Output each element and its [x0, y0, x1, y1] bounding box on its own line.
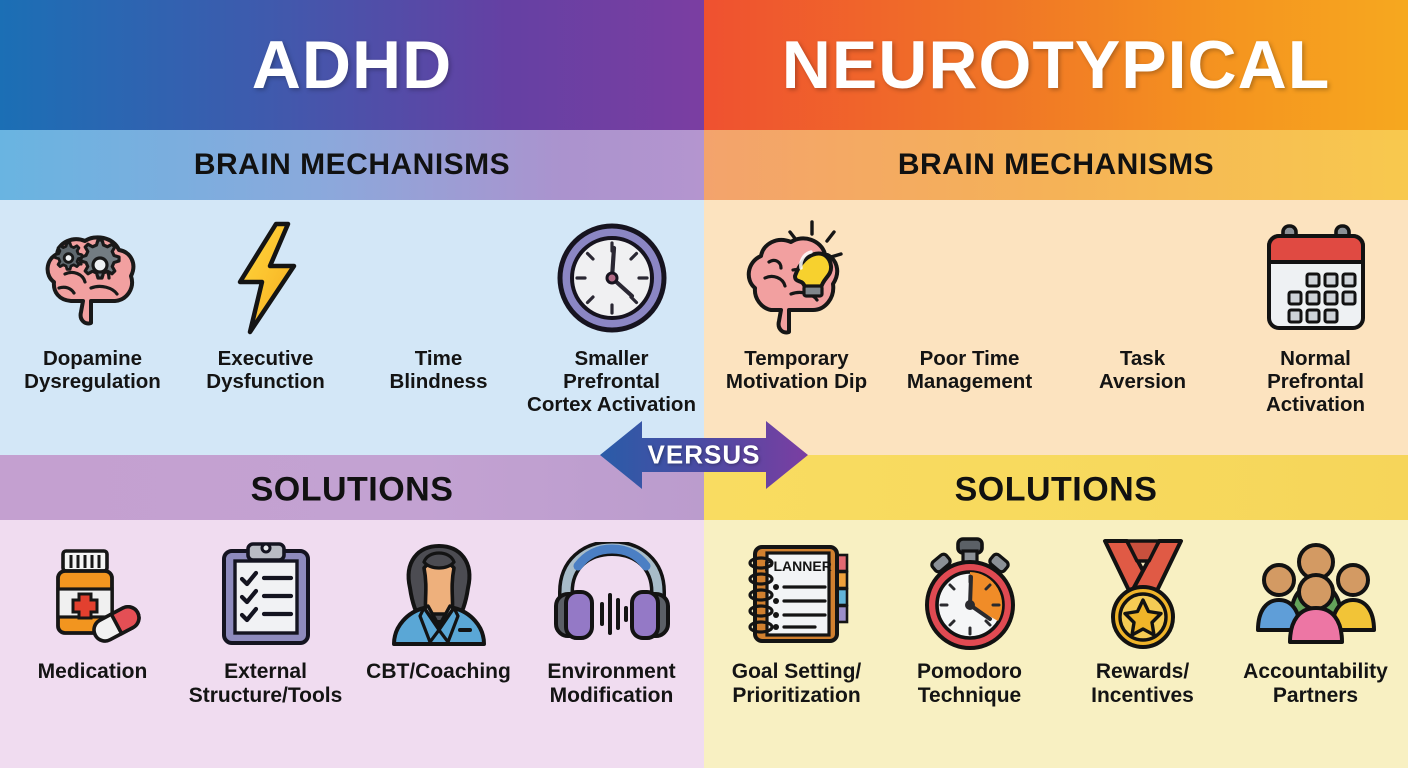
list-item-label: Medication	[38, 660, 148, 684]
list-item-label: Normal Prefrontal Activation	[1266, 348, 1365, 417]
list-item: Time Blindness	[352, 214, 525, 394]
neurotypical-solutions-panel: PLANNER	[704, 520, 1408, 768]
list-item: Rewards/ Incentives	[1056, 534, 1229, 707]
list-item-label: Smaller Prefrontal Cortex Activation	[527, 348, 696, 417]
list-item: Accountability Partners	[1229, 534, 1402, 707]
list-item: Executive Dysfunction	[179, 214, 352, 394]
neurotypical-solutions-header: SOLUTIONS	[704, 471, 1408, 510]
lightning-bolt-icon	[224, 214, 308, 342]
list-item-label: Executive Dysfunction	[206, 348, 324, 394]
adhd-column: ADHD BRAIN MECHANISMS	[0, 0, 704, 768]
list-item: Medication	[6, 534, 179, 684]
list-item: PLANNER	[710, 534, 883, 707]
list-item-label: Goal Setting/ Prioritization	[732, 660, 862, 707]
people-group-icon	[1255, 534, 1377, 654]
list-item-label: Accountability Partners	[1243, 660, 1388, 707]
list-item: External Structure/Tools	[179, 534, 352, 707]
medal-icon	[1089, 534, 1197, 654]
brain-lightbulb-icon	[733, 214, 861, 342]
list-item: CBT/Coaching	[352, 534, 525, 684]
list-item-label: Poor Time Management	[907, 348, 1032, 394]
adhd-title-band: ADHD	[0, 0, 704, 130]
list-item-label: Rewards/ Incentives	[1091, 660, 1194, 707]
list-item: Normal Prefrontal Activation	[1229, 214, 1402, 417]
list-item-label: Dopamine Dysregulation	[24, 348, 161, 394]
headphones-icon	[552, 534, 672, 654]
clock-icon	[554, 214, 670, 342]
list-item: Temporary Motivation Dip	[710, 214, 883, 394]
neurotypical-title-band: NEUROTYPICAL	[704, 0, 1408, 130]
list-item: Dopamine Dysregulation	[6, 214, 179, 394]
adhd-solutions-panel: Medication	[0, 520, 704, 768]
clipboard-checklist-icon	[216, 534, 316, 654]
neurotypical-mechanisms-panel: Temporary Motivation Dip Poor Time Manag…	[704, 200, 1408, 455]
list-item: Environment Modification	[525, 534, 698, 707]
planner-notebook-icon: PLANNER	[741, 534, 853, 654]
comparison-infographic: ADHD BRAIN MECHANISMS	[0, 0, 1408, 768]
neurotypical-mechanisms-items: Temporary Motivation Dip Poor Time Manag…	[704, 200, 1408, 455]
list-item-label: External Structure/Tools	[189, 660, 343, 707]
neurotypical-solutions-items: PLANNER	[704, 520, 1408, 768]
adhd-title: ADHD	[0, 26, 704, 104]
adhd-mechanisms-panel: Dopamine Dysregulation	[0, 200, 704, 455]
person-therapist-icon	[386, 534, 492, 654]
list-item: Poor Time Management	[883, 214, 1056, 394]
stopwatch-icon	[914, 534, 1026, 654]
versus-arrow: VERSUS	[600, 418, 808, 492]
list-item-label: Time Blindness	[390, 348, 488, 394]
list-item: Task Aversion	[1056, 214, 1229, 394]
pill-bottle-icon	[40, 534, 146, 654]
neurotypical-column: NEUROTYPICAL BRAIN MECHANISMS	[704, 0, 1408, 768]
adhd-mechanisms-header: BRAIN MECHANISMS	[0, 148, 704, 182]
list-item-label: Pomodoro Technique	[917, 660, 1022, 707]
svg-text:PLANNER: PLANNER	[764, 558, 832, 574]
neurotypical-mechanisms-header: BRAIN MECHANISMS	[704, 148, 1408, 182]
adhd-mechanisms-header-band: BRAIN MECHANISMS	[0, 130, 704, 200]
brain-gears-icon	[31, 214, 155, 342]
adhd-solutions-header-band: SOLUTIONS	[0, 455, 704, 525]
list-item: Smaller Prefrontal Cortex Activation	[525, 214, 698, 417]
list-item: Pomodoro Technique	[883, 534, 1056, 707]
list-item-label: Task Aversion	[1099, 348, 1186, 394]
adhd-mechanisms-items: Dopamine Dysregulation	[0, 200, 704, 455]
calendar-icon	[1261, 214, 1371, 342]
adhd-solutions-header: SOLUTIONS	[0, 471, 704, 510]
neurotypical-solutions-header-band: SOLUTIONS	[704, 455, 1408, 525]
list-item-label: CBT/Coaching	[366, 660, 511, 684]
adhd-solutions-items: Medication	[0, 520, 704, 768]
neurotypical-title: NEUROTYPICAL	[704, 26, 1408, 104]
list-item-label: Temporary Motivation Dip	[726, 348, 867, 394]
neurotypical-mechanisms-header-band: BRAIN MECHANISMS	[704, 130, 1408, 200]
list-item-label: Environment Modification	[547, 660, 675, 707]
